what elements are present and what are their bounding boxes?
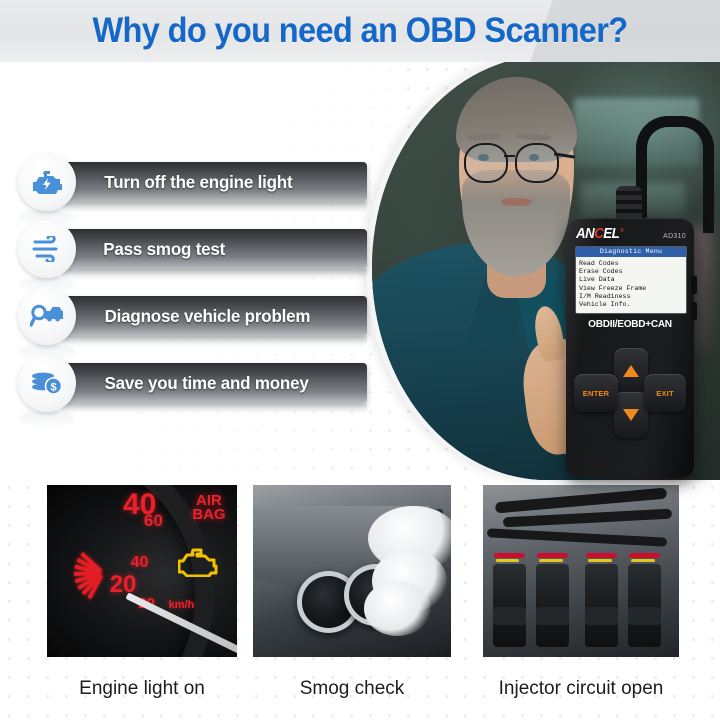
caption-engine-light: Engine light on (20, 672, 264, 706)
menu-item-erase-codes[interactable]: Erase Codes (578, 268, 684, 276)
lcd-menu-list[interactable]: Read Codes Erase Codes Live Data View Fr… (576, 257, 686, 309)
engine-bolt-icon (18, 153, 76, 211)
menu-item-view-freeze-frame[interactable]: View Freeze Frame (578, 285, 684, 293)
airbag-warning-text: AIRBAG (192, 494, 225, 522)
up-arrow-button[interactable] (614, 348, 648, 394)
wind-airflow-icon (18, 220, 76, 278)
caption-smog-check: Smog check (253, 672, 451, 706)
feature-label: Diagnose vehicle problem (66, 306, 311, 327)
device-side-port-top (691, 276, 697, 294)
feature-item-diagnose[interactable]: Diagnose vehicle problem (10, 284, 380, 351)
page-title: Why do you need an OBD Scanner? (25, 0, 695, 62)
enter-button[interactable]: ENTER (574, 374, 618, 412)
glasses-lens-left (464, 143, 508, 183)
feature-bar: Save you time and money (62, 363, 367, 403)
menu-item-im-readiness[interactable]: I/M Readiness (578, 293, 684, 301)
device-side-port-bottom (691, 302, 697, 320)
feature-label: Save you time and money (66, 373, 309, 394)
feature-label: Turn off the engine light (66, 172, 293, 193)
fuel-injector-2 (536, 564, 569, 647)
feature-item-engine-light[interactable]: Turn off the engine light (10, 150, 380, 217)
registered-mark: ® (620, 228, 623, 234)
feature-item-save-money[interactable]: Save you time and money $ (10, 351, 380, 418)
feature-bar: Diagnose vehicle problem (62, 296, 367, 336)
glasses-bridge (504, 155, 515, 158)
triangle-up-icon (623, 365, 639, 377)
gauge-number-60: 60 (144, 511, 163, 531)
brand-logo: ANCEL® (576, 227, 623, 242)
down-arrow-button[interactable] (614, 392, 648, 438)
feature-label: Pass smog test (64, 239, 225, 260)
feature-list: Turn off the engine light Pass smog test (10, 150, 380, 418)
gauge-number-40: 40 (131, 554, 149, 572)
device-lcd-screen: Diagnostic Menu Read Codes Erase Codes L… (575, 246, 687, 314)
magnifier-car-icon (18, 287, 76, 345)
check-engine-light-icon (178, 547, 218, 582)
feature-bar: Turn off the engine light (62, 162, 367, 202)
caption-injector-circuit: Injector circuit open (470, 672, 692, 706)
gauge-unit-label: km/h (169, 599, 195, 611)
obd-scanner-device: ANCEL® AD310 Diagnostic Menu Read Codes … (566, 218, 694, 478)
photo-gallery: 40 60 40 20 20 km/h AIRBAG (0, 485, 720, 660)
obd-cable (636, 116, 714, 233)
menu-item-live-data[interactable]: Live Data (578, 276, 684, 284)
product-infographic: Why do you need an OBD Scanner? ANCEL® (0, 0, 720, 720)
injector-photo (483, 485, 679, 657)
badge-reflection (18, 411, 76, 427)
feature-bar: Pass smog test (62, 229, 367, 269)
fuel-injector-4 (628, 564, 661, 647)
svg-text:$: $ (50, 381, 56, 393)
menu-item-vehicle-info[interactable]: Vehicle Info. (578, 301, 684, 309)
device-brand-row: ANCEL® AD310 (574, 227, 686, 242)
lcd-title: Diagnostic Menu (576, 247, 686, 257)
fuel-injector-3 (585, 564, 618, 647)
menu-item-read-codes[interactable]: Read Codes (578, 260, 684, 268)
exhaust-photo (253, 485, 451, 657)
coins-dollar-icon: $ (18, 354, 76, 412)
triangle-down-icon (623, 409, 639, 421)
exit-button-label: EXIT (656, 389, 673, 398)
person-mouth (501, 198, 532, 206)
device-keypad: ENTER EXIT (566, 346, 694, 462)
protocol-label: OBDII/EOBD+CAN (569, 318, 692, 330)
feature-item-smog-test[interactable]: Pass smog test (10, 217, 380, 284)
exit-button[interactable]: EXIT (644, 374, 686, 412)
dashboard-photo: 40 60 40 20 20 km/h AIRBAG (47, 485, 237, 657)
device-model-label: AD310 (663, 233, 686, 240)
glasses-lens-right (515, 143, 559, 183)
fuel-injector-1 (493, 564, 526, 647)
enter-button-label: ENTER (583, 389, 609, 398)
